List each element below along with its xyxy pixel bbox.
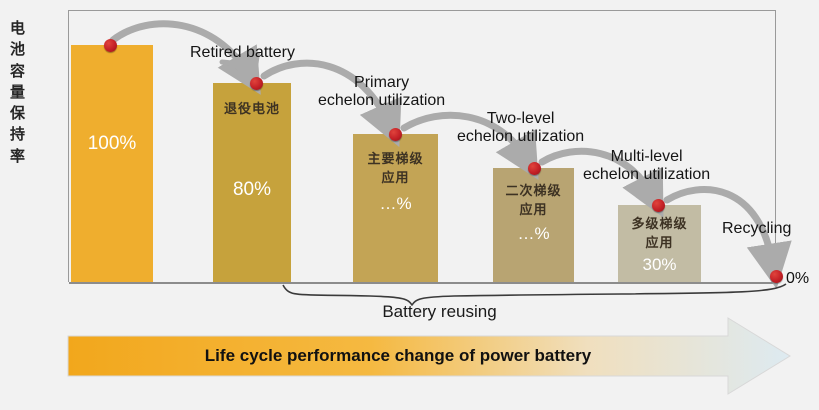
bar-two-level-value: …% xyxy=(517,224,549,244)
annotation-multi-level-line1: Multi-level xyxy=(583,148,710,166)
annotation-recycling: Recycling xyxy=(722,220,791,238)
marker-dot-primary xyxy=(389,128,402,141)
annotation-two-level-echelon: Two-level echelon utilization xyxy=(457,110,584,147)
bar-80-value: 80% xyxy=(233,179,271,201)
bar-multi-level-value: 30% xyxy=(642,255,676,275)
bar-primary-value: …% xyxy=(379,194,411,214)
annotation-two-level-line2: echelon utilization xyxy=(457,128,584,146)
bar-primary-echelon[interactable]: 主要梯级 应用 …% xyxy=(353,134,438,282)
annotation-recycling-line1: Recycling xyxy=(722,220,791,238)
brace-label-battery-reusing: Battery reusing xyxy=(0,302,819,322)
annotation-primary-echelon: Primary echelon utilization xyxy=(318,74,445,111)
bar-multi-level-label-cn-1: 多级梯级 xyxy=(631,216,687,235)
brace-label-text: Battery reusing xyxy=(322,302,496,321)
y-axis-label-chinese: 电池容量保持率 xyxy=(4,18,32,167)
bar-primary-label-cn-1: 主要梯级 xyxy=(367,151,423,170)
banner-title: Life cycle performance change of power b… xyxy=(68,333,728,379)
annotation-multi-level-line2: echelon utilization xyxy=(583,166,710,184)
bar-two-level-label-cn-1: 二次梯级 xyxy=(505,183,561,202)
annotation-multi-level-echelon: Multi-level echelon utilization xyxy=(583,148,710,185)
annotation-two-level-line1: Two-level xyxy=(457,110,584,128)
bar-multi-level-echelon[interactable]: 多级梯级 应用 30% xyxy=(618,205,701,282)
plot-area: 100% 退役电池 80% 主要梯级 应用 …% 二次梯级 应用 …% 多级梯级… xyxy=(68,10,776,282)
marker-dot-two-level xyxy=(528,162,541,175)
marker-dot-zero xyxy=(770,270,783,283)
annotation-primary-line1: Primary xyxy=(318,74,445,92)
bar-80[interactable]: 退役电池 80% xyxy=(213,83,291,282)
annotation-retired-battery: Retired battery xyxy=(190,44,295,62)
bar-100-value: 100% xyxy=(88,133,137,155)
bar-80-label-cn: 退役电池 xyxy=(224,101,280,120)
annotation-primary-line2: echelon utilization xyxy=(318,92,445,110)
marker-dot-multi-level xyxy=(652,199,665,212)
bar-two-level-echelon[interactable]: 二次梯级 应用 …% xyxy=(493,168,574,282)
bar-primary-label-cn-2: 应用 xyxy=(381,170,409,189)
annotation-retired-battery-line1: Retired battery xyxy=(190,44,295,62)
bar-two-level-label-cn-2: 应用 xyxy=(519,202,547,221)
marker-dot-80 xyxy=(250,77,263,90)
marker-dot-100 xyxy=(104,39,117,52)
figure-root: 电池容量保持率 Battery capacity retention rate/… xyxy=(0,0,819,410)
bar-100[interactable]: 100% xyxy=(71,45,153,282)
zero-percent-label: 0% xyxy=(786,270,809,288)
bar-multi-level-label-cn-2: 应用 xyxy=(645,235,673,254)
